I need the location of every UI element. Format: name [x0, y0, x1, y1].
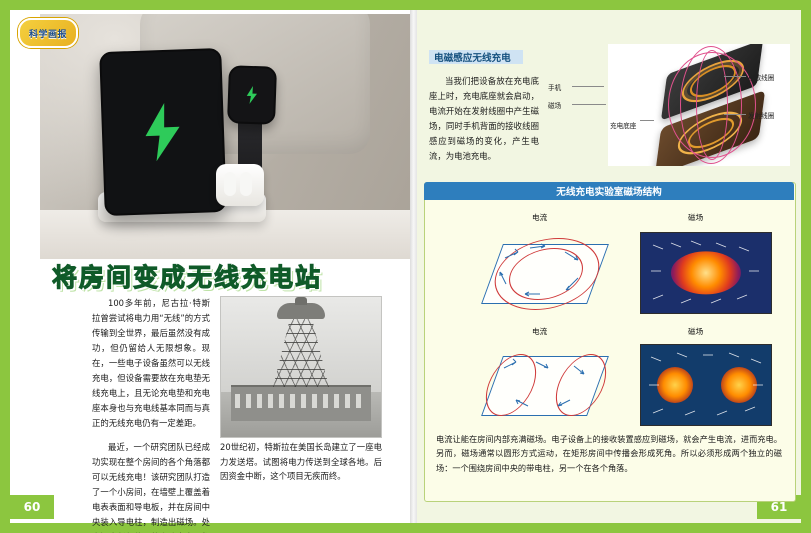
frame-right — [801, 0, 811, 533]
label-transmitter-coil: 发射线圈 — [748, 110, 774, 120]
leader-line-phone — [572, 86, 604, 87]
section2-header: 无线充电实验室磁场结构 — [424, 182, 794, 200]
charging-bolt-icon — [140, 102, 186, 162]
hero-photo — [40, 14, 410, 259]
hexagonal-room-current-diagram-top — [470, 228, 620, 320]
smartwatch — [227, 65, 277, 125]
field-line-3 — [696, 50, 728, 160]
heatmap-vectors-bottom — [641, 345, 771, 425]
hexagonal-room-current-diagram-bottom — [470, 340, 620, 432]
earbuds-case — [216, 164, 264, 206]
left-paragraph-1: 100多年前，尼古拉·特斯拉曾尝试将电力用“无线”的方式传输到全世界，最后虽然没… — [92, 296, 210, 431]
label-current-top: 电流 — [532, 212, 547, 223]
label-magnetic-field: 磁场 — [548, 100, 561, 110]
leader-line-transmitter — [724, 114, 746, 115]
magazine-logo-label: 科学画报 — [29, 27, 67, 40]
magnetic-field-heatmap-top — [640, 232, 772, 314]
left-body-text: 100多年前，尼古拉·特斯拉曾尝试将电力用“无线”的方式传输到全世界，最后虽然没… — [92, 296, 210, 533]
frame-left — [0, 0, 10, 533]
page-gutter — [410, 10, 417, 523]
page-number-left: 60 — [10, 495, 54, 519]
section1-title: 电磁感应无线充电 — [434, 50, 511, 64]
frame-top — [0, 0, 811, 10]
induction-charging-diagram — [608, 44, 790, 166]
phone-on-stand — [99, 48, 227, 216]
label-receiver-coil: 接收线圈 — [748, 72, 774, 82]
label-field-top: 磁场 — [688, 212, 703, 223]
section1-title-bar: 电磁感应无线充电 — [429, 50, 523, 64]
label-field-bottom: 磁场 — [688, 326, 703, 337]
leader-line-field — [572, 104, 606, 105]
leader-line-receiver — [724, 76, 746, 77]
section1-body: 当我们把设备放在充电底座上时，充电底座就会启动，电流开始在发射线圈中产生磁场，同… — [429, 74, 539, 173]
page-title: 将房间变成无线充电站 — [52, 258, 322, 294]
section2-title: 无线充电实验室磁场结构 — [556, 184, 662, 198]
magazine-spread: 科学画报 将房间变成无线充电站 100多年前，尼古拉·特斯拉曾尝试将电力用“无线… — [0, 0, 811, 533]
magazine-logo: 科学画报 — [18, 18, 78, 48]
hex-arrows-top — [470, 228, 620, 320]
section1-paragraph: 当我们把设备放在充电底座上时，充电底座就会启动，电流开始在发射线圈中产生磁场，同… — [429, 74, 539, 164]
archive-tower-dome — [277, 303, 325, 319]
leader-line-base — [640, 120, 654, 121]
watch-charging-bolt-icon — [245, 86, 259, 104]
label-phone: 手机 — [548, 82, 561, 92]
label-charging-base: 充电底座 — [610, 120, 636, 130]
section2-body: 电流让能在房间内部充满磁场。电子设备上的接收装置感应到磁场，就会产生电流，进而充… — [436, 432, 782, 475]
magnetic-field-heatmap-bottom — [640, 344, 772, 426]
archive-building — [231, 385, 371, 421]
archive-photo — [220, 296, 382, 438]
label-current-bottom: 电流 — [532, 326, 547, 337]
archive-tower-cap — [295, 297, 307, 305]
heatmap-vectors-top — [641, 233, 771, 313]
archive-photo-caption: 20世纪初，特斯拉在美国长岛建立了一座电力发送塔。试图将电力传送到全球各地。后因… — [220, 440, 382, 484]
hex-arrows-bottom — [470, 340, 620, 432]
left-paragraph-2: 最近，一个研究团队已经成功实现在整个房间的各个角落都可以无线充电！该研究团队打造… — [92, 440, 210, 533]
